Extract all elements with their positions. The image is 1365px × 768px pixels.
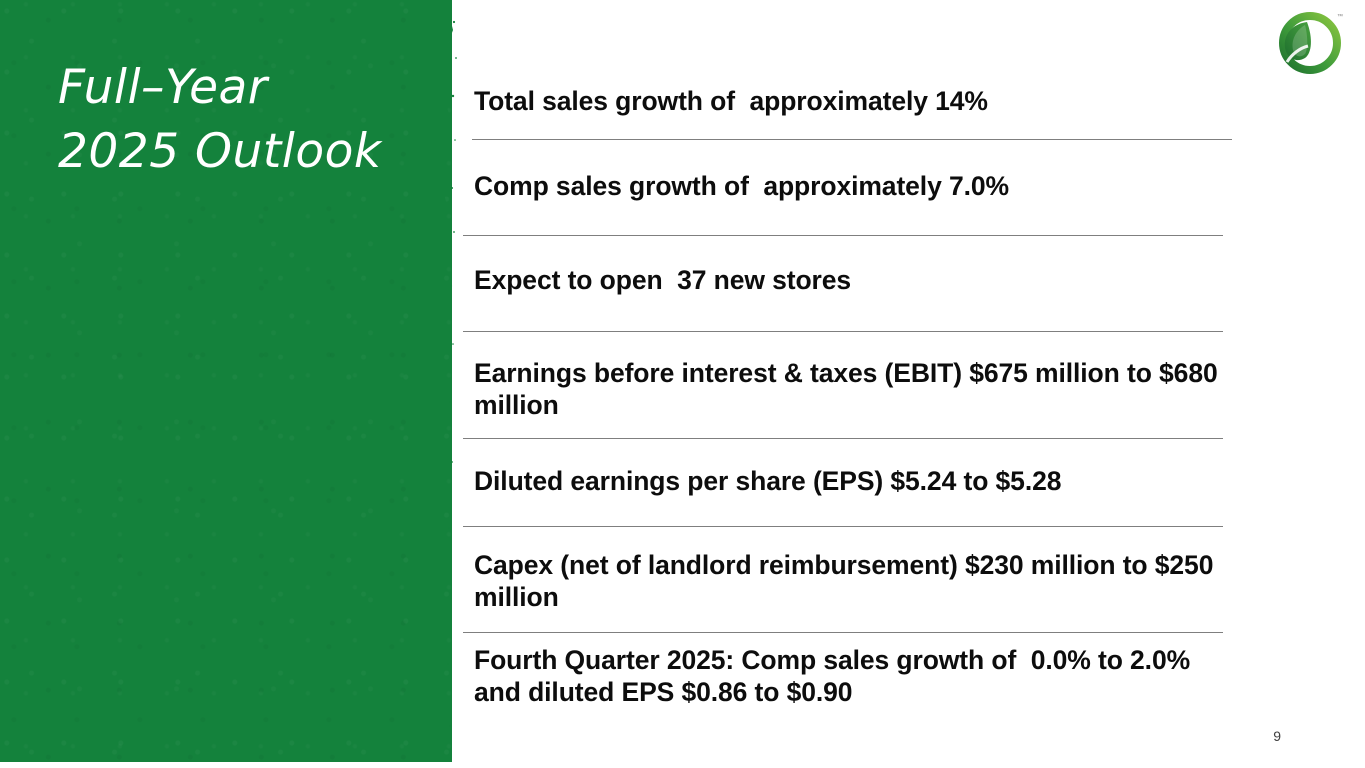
list-item-text: Earnings before interest & taxes (EBIT) … [463, 357, 1223, 421]
sprouts-leaf-ring-logo: ™ [1272, 10, 1348, 76]
list-divider [463, 235, 1223, 236]
list-divider [472, 139, 1232, 140]
list-divider [463, 526, 1223, 527]
list-item: Expect to open 37 new stores [463, 255, 1223, 305]
outlook-list: Total sales growth of approximately 14% … [463, 0, 1233, 768]
list-item: Comp sales growth of approximately 7.0% [463, 161, 1223, 211]
list-divider [463, 438, 1223, 439]
page-title: Full–Year 2025 Outlook [58, 56, 428, 184]
list-item-text: Fourth Quarter 2025: Comp sales growth o… [463, 644, 1223, 708]
page-number: 9 [1273, 728, 1281, 744]
list-item: Fourth Quarter 2025: Comp sales growth o… [463, 641, 1223, 711]
list-item: Total sales growth of approximately 14% [463, 76, 1223, 126]
list-item-text: Total sales growth of approximately 14% [463, 85, 992, 117]
trademark-symbol: ™ [1337, 14, 1343, 20]
list-item: Earnings before interest & taxes (EBIT) … [463, 354, 1223, 424]
list-item: Diluted earnings per share (EPS) $5.24 t… [463, 456, 1223, 506]
slide: Full–Year 2025 Outlook Total sales growt… [0, 0, 1365, 768]
list-divider [463, 331, 1223, 332]
list-item-text: Capex (net of landlord reimbursement) $2… [463, 549, 1223, 613]
list-item-text: Comp sales growth of approximately 7.0% [463, 170, 1013, 202]
list-item-text: Expect to open 37 new stores [463, 264, 855, 296]
list-divider [463, 632, 1223, 633]
list-item: Capex (net of landlord reimbursement) $2… [463, 546, 1223, 616]
list-item-text: Diluted earnings per share (EPS) $5.24 t… [463, 465, 1065, 497]
